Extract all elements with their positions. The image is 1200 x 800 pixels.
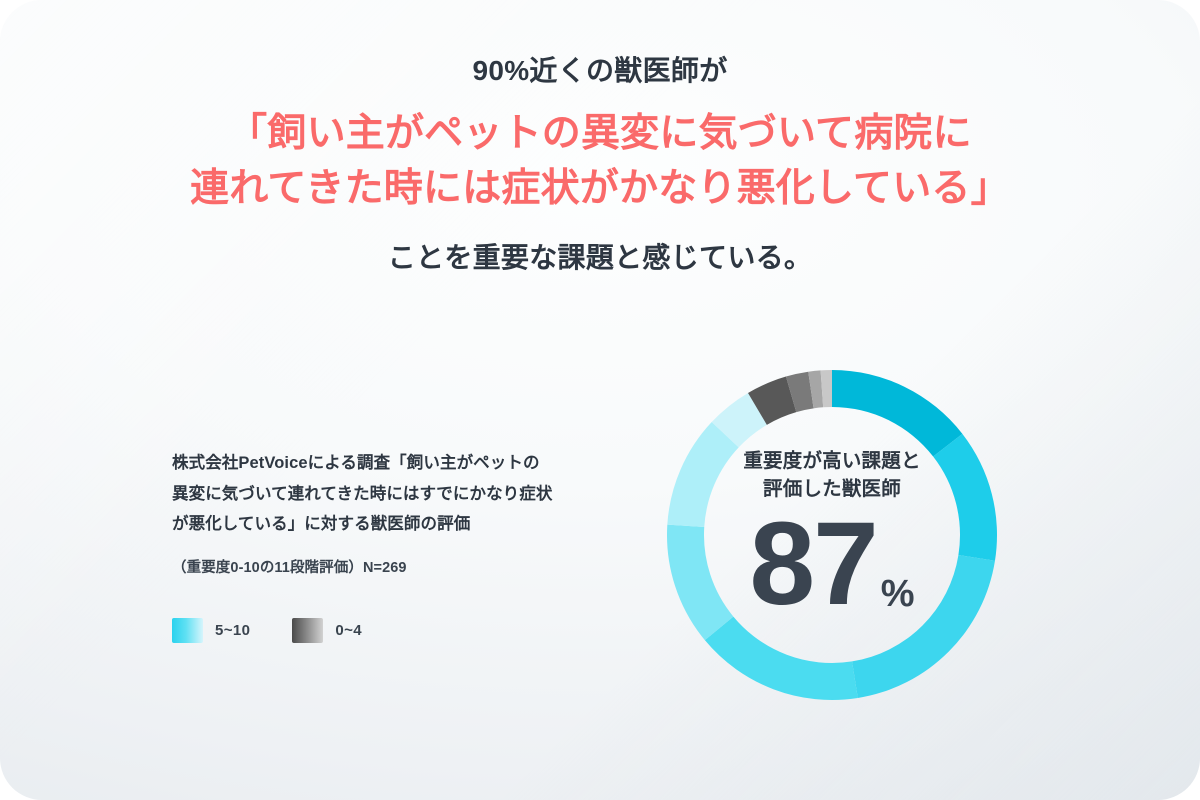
donut-segment — [667, 525, 733, 641]
legend-swatch-icon-high — [172, 618, 203, 643]
headline-lead: 90%近くの獣医師が — [0, 52, 1200, 90]
legend-item-low: 0~4 — [292, 618, 362, 643]
donut-segment — [832, 370, 962, 457]
infographic-card: 90%近くの獣医師が 「飼い主がペットの異変に気づいて病院に 連れてきた時には症… — [0, 0, 1200, 800]
legend-label-high: 5~10 — [215, 622, 250, 639]
headline-tail: ことを重要な課題と感じている。 — [0, 239, 1200, 277]
legend-item-high: 5~10 — [172, 618, 250, 643]
donut-segment — [852, 555, 995, 698]
chart-legend: 5~10 0~4 — [172, 618, 362, 643]
donut-segment-group — [667, 370, 997, 700]
legend-label-low: 0~4 — [335, 622, 362, 639]
survey-sample-note: （重要度0-10の11段階評価）N=269 — [172, 556, 554, 577]
donut-chart: 重要度が高い課題と 評価した獣医師 87 % — [632, 335, 1032, 735]
survey-description: 株式会社PetVoiceによる調査「飼い主がペットの異変に気づいて連れてきた時に… — [172, 448, 554, 540]
donut-segment — [933, 434, 997, 561]
donut-segment — [705, 617, 858, 700]
donut-segment — [667, 422, 738, 527]
headline-quote-line-2: 連れてきた時には症状がかなり悪化している」 — [0, 161, 1200, 216]
donut-chart-svg — [632, 335, 1032, 735]
legend-swatch-icon-low — [292, 618, 323, 643]
survey-caption: 株式会社PetVoiceによる調査「飼い主がペットの異変に気づいて連れてきた時に… — [172, 448, 554, 577]
headline-quote-line-1: 「飼い主がペットの異変に気づいて病院に — [0, 106, 1200, 161]
headline-block: 90%近くの獣医師が 「飼い主がペットの異変に気づいて病院に 連れてきた時には症… — [0, 52, 1200, 276]
